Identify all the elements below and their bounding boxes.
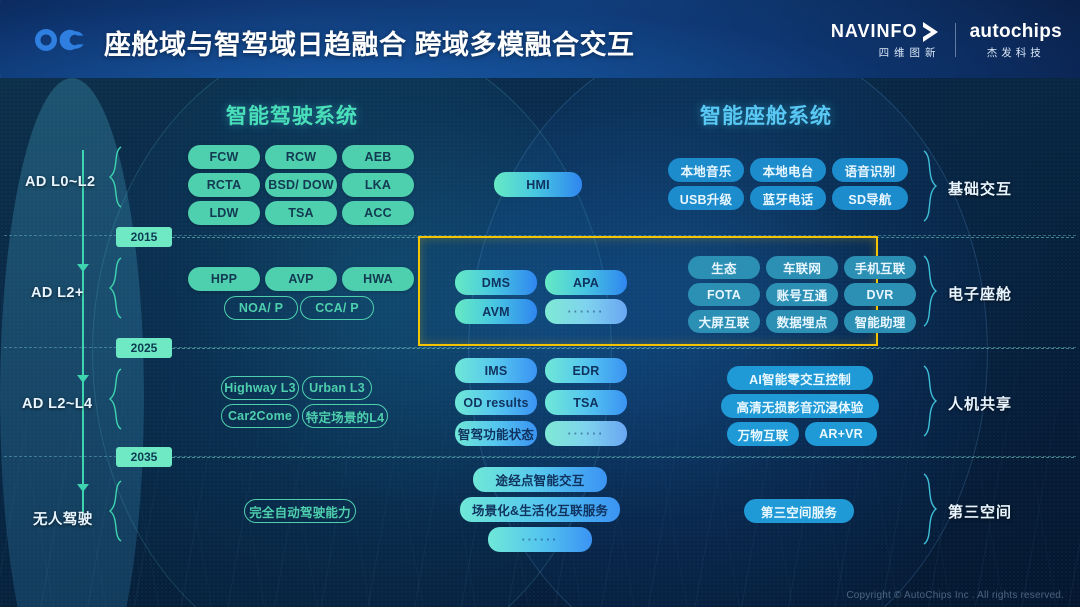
brand-bar: NAVINFO 四维图新 autochips 杰发科技: [831, 18, 1062, 62]
year-line-1: [172, 348, 1074, 349]
pill-center-scenario-life-services[interactable]: 场景化&生活化互联服务: [460, 497, 620, 522]
pill-center-avm[interactable]: AVM: [455, 299, 537, 324]
pill-left-ldw[interactable]: LDW: [188, 201, 260, 225]
pill-left-avp[interactable]: AVP: [265, 267, 337, 291]
pill-left-tsa[interactable]: TSA: [265, 201, 337, 225]
pill-right-ai-zero-interaction[interactable]: AI智能零交互控制: [727, 366, 873, 390]
stage-brace-0: [108, 146, 124, 208]
pill-right-third-space-service[interactable]: 第三空间服务: [744, 499, 854, 523]
year-chip-2: 2035: [116, 447, 172, 467]
pill-right-local-radio[interactable]: 本地电台: [750, 158, 826, 182]
timeline-axis: [82, 150, 84, 515]
year-line-2: [172, 457, 1074, 458]
autochips-cn-label: 杰发科技: [987, 45, 1045, 60]
pill-right-ar-vr[interactable]: AR+VR: [805, 422, 877, 446]
level-brace-1: [921, 255, 938, 327]
pill-center-more-3[interactable]: ······: [488, 527, 592, 552]
level-brace-2: [921, 365, 938, 437]
pill-center-dms[interactable]: DMS: [455, 270, 537, 295]
pill-left-hpp[interactable]: HPP: [188, 267, 260, 291]
pill-center-waypoint-interaction[interactable]: 途经点智能交互: [473, 467, 607, 492]
pill-center-apa[interactable]: APA: [545, 270, 627, 295]
pill-left-highway-l3[interactable]: Highway L3: [221, 376, 299, 400]
pill-left-rcta[interactable]: RCTA: [188, 173, 260, 197]
left-system-title: 智能驾驶系统: [226, 100, 358, 130]
page-title: 座舱域与智驾域日趋融合 跨域多模融合交互: [104, 23, 635, 62]
level-label-3: 第三空间: [948, 501, 1012, 522]
brand-divider: [955, 23, 956, 57]
pill-right-large-screen-link[interactable]: 大屏互联: [688, 310, 760, 333]
navinfo-cn-label: 四维图新: [879, 45, 941, 60]
stage-brace-2: [108, 368, 124, 430]
year-chip-1: 2025: [116, 338, 172, 358]
pill-center-more-2[interactable]: ······: [545, 421, 627, 446]
stage-label-3: 无人驾驶: [33, 508, 93, 529]
copyright-text: Copyright © AutoChips Inc . All rights r…: [846, 590, 1064, 601]
pill-left-aeb[interactable]: AEB: [342, 145, 414, 169]
level-brace-0: [921, 150, 938, 222]
pill-right-usb-upgrade[interactable]: USB升级: [668, 186, 744, 210]
pill-right-dvr[interactable]: DVR: [844, 283, 916, 306]
navinfo-arrow-icon: [921, 21, 941, 43]
pill-left-rcw[interactable]: RCW: [265, 145, 337, 169]
year-chip-0: 2015: [116, 227, 172, 247]
year-line-0: [172, 237, 1074, 238]
stage-label-0: AD L0~L2: [25, 174, 95, 190]
pill-center-hmi[interactable]: HMI: [494, 172, 582, 197]
pill-right-hd-lossless-av[interactable]: 高清无损影音沉浸体验: [721, 394, 879, 418]
pill-center-more-1[interactable]: ······: [545, 299, 627, 324]
pill-right-data-tracking[interactable]: 数据埋点: [766, 310, 838, 333]
pill-right-sd-navigation[interactable]: SD导航: [832, 186, 908, 210]
autochips-logo: autochips 杰发科技: [970, 21, 1062, 60]
level-label-1: 电子座舱: [948, 283, 1012, 304]
pill-left-cca-p[interactable]: CCA/ P: [300, 296, 374, 320]
pill-right-voice-recognition[interactable]: 语音识别: [832, 158, 908, 182]
pill-right-iov[interactable]: 车联网: [766, 256, 838, 279]
level-label-0: 基础交互: [948, 178, 1012, 199]
timeline-arrow-1: [77, 264, 89, 272]
pill-right-phone-link[interactable]: 手机互联: [844, 256, 916, 279]
pill-left-acc[interactable]: ACC: [342, 201, 414, 225]
pill-right-iot[interactable]: 万物互联: [727, 422, 799, 446]
pill-left-car2come[interactable]: Car2Come: [221, 404, 299, 428]
stage-label-1: AD L2+: [31, 285, 84, 301]
slide-root: 座舱域与智驾域日趋融合 跨域多模融合交互 NAVINFO 四维图新 autoch…: [0, 0, 1080, 607]
pill-left-noa-p[interactable]: NOA/ P: [224, 296, 298, 320]
oc-logo-icon: [30, 26, 92, 54]
pill-left-lka[interactable]: LKA: [342, 173, 414, 197]
pill-right-bluetooth-call[interactable]: 蓝牙电话: [750, 186, 826, 210]
pill-right-local-music[interactable]: 本地音乐: [668, 158, 744, 182]
pill-center-ims[interactable]: IMS: [455, 358, 537, 383]
pill-right-ecology[interactable]: 生态: [688, 256, 760, 279]
level-label-2: 人机共享: [948, 393, 1012, 414]
pill-right-smart-assistant[interactable]: 智能助理: [844, 310, 916, 333]
pill-right-fota[interactable]: FOTA: [688, 283, 760, 306]
pill-left-bsd-dow[interactable]: BSD/ DOW: [265, 173, 337, 197]
pill-center-ad-function-status[interactable]: 智驾功能状态: [455, 421, 537, 446]
pill-left-urban-l3[interactable]: Urban L3: [302, 376, 372, 400]
navinfo-en-label: NAVINFO: [831, 21, 918, 42]
timeline-arrow-3: [77, 484, 89, 492]
pill-center-edr[interactable]: EDR: [545, 358, 627, 383]
pill-center-od-results[interactable]: OD results: [455, 390, 537, 415]
pill-right-account-sync[interactable]: 账号互通: [766, 283, 838, 306]
autochips-en-label: autochips: [970, 21, 1062, 43]
timeline-arrow-2: [77, 375, 89, 383]
pill-left-full-autonomy[interactable]: 完全自动驾驶能力: [244, 499, 356, 523]
pill-left-hwa[interactable]: HWA: [342, 267, 414, 291]
stage-label-2: AD L2~L4: [22, 396, 92, 412]
pill-center-tsa[interactable]: TSA: [545, 390, 627, 415]
stage-brace-1: [108, 257, 124, 319]
stage-brace-3: [108, 480, 124, 542]
pill-left-specific-l4[interactable]: 特定场景的L4: [302, 404, 388, 428]
right-system-title: 智能座舱系统: [700, 100, 832, 130]
level-brace-3: [921, 473, 938, 545]
navinfo-logo: NAVINFO 四维图新: [831, 21, 941, 60]
slide-header: 座舱域与智驾域日趋融合 跨域多模融合交互 NAVINFO 四维图新 autoch…: [0, 0, 1080, 78]
pill-left-fcw[interactable]: FCW: [188, 145, 260, 169]
